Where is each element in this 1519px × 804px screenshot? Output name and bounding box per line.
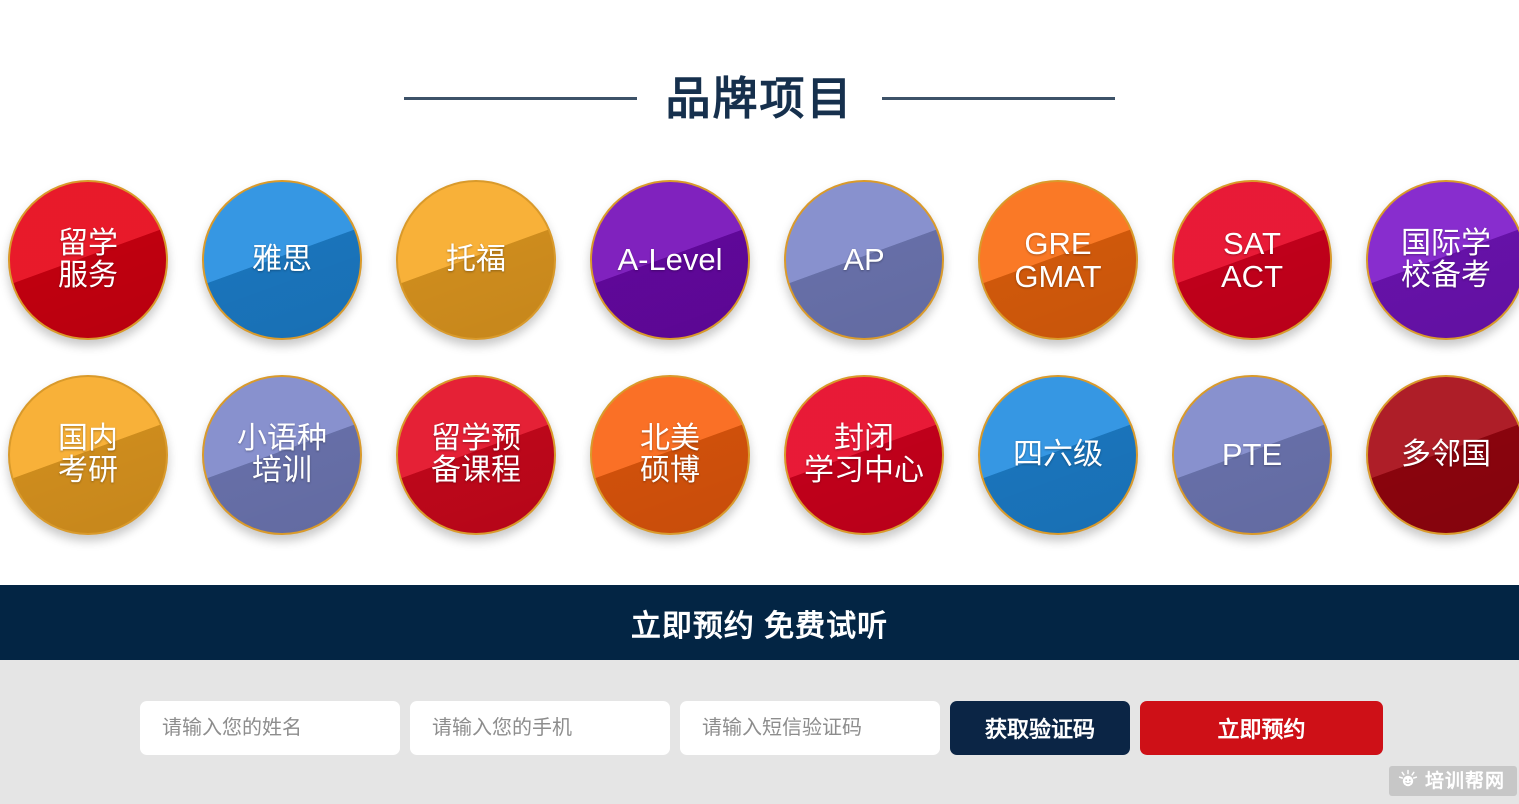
program-bubble-label: 封闭 学习中心 [796,423,932,488]
submit-booking-button[interactable]: 立即预约 [1140,701,1383,755]
program-bubble[interactable]: AP [784,180,944,340]
program-bubble[interactable]: 雅思 [202,180,362,340]
program-bubble-label: 留学 服务 [50,228,126,293]
program-bubble-label: PTE [1214,438,1290,471]
get-verification-code-button[interactable]: 获取验证码 [950,701,1130,755]
program-bubble[interactable]: 多邻国 [1366,375,1519,535]
program-bubble-label: 国际学 校备考 [1393,228,1499,293]
page-title: 品牌项目 [665,76,853,121]
program-bubble[interactable]: GRE GMAT [978,180,1138,340]
program-cell: 雅思 [202,180,396,345]
program-cell: GRE GMAT [978,180,1172,345]
program-cell: 留学预 备课程 [396,375,590,540]
booking-banner-title: 立即预约 免费试听 [631,601,888,645]
program-row-2: 国内 考研小语种 培训留学预 备课程北美 硕博封闭 学习中心四六级PTE多邻国 [0,375,1519,540]
program-grid: 留学 服务雅思托福A-LevelAPGRE GMATSAT ACT国际学 校备考… [0,180,1519,570]
program-bubble-label: A-Level [609,243,730,276]
program-cell: AP [784,180,978,345]
program-bubble-label: 国内 考研 [50,423,126,488]
program-bubble[interactable]: 留学 服务 [8,180,168,340]
program-cell: PTE [1172,375,1366,540]
program-bubble-label: 小语种 培训 [229,423,335,488]
program-bubble-label: 北美 硕博 [632,423,708,488]
program-bubble-label: 留学预 备课程 [423,423,529,488]
booking-form: 获取验证码 立即预约 [140,701,1383,755]
program-bubble-label: 多邻国 [1393,439,1499,471]
program-bubble[interactable]: 小语种 培训 [202,375,362,535]
program-cell: A-Level [590,180,784,345]
program-cell: 国际学 校备考 [1366,180,1519,345]
program-bubble[interactable]: 托福 [396,180,556,340]
program-bubble[interactable]: 国际学 校备考 [1366,180,1519,340]
program-bubble-label: 雅思 [244,244,320,276]
program-bubble-label: 四六级 [1005,439,1111,471]
brand-programs-page: 品牌项目 留学 服务雅思托福A-LevelAPGRE GMATSAT ACT国际… [0,0,1519,804]
program-bubble-label: SAT ACT [1213,227,1291,294]
heading-rule-right [882,97,1115,100]
page-heading: 品牌项目 [0,62,1519,134]
booking-banner: 立即预约 免费试听 [0,585,1519,660]
program-bubble-label: 托福 [438,244,514,276]
heading-rule-left [404,97,637,100]
program-bubble[interactable]: 封闭 学习中心 [784,375,944,535]
name-input[interactable] [140,701,400,755]
program-cell: 封闭 学习中心 [784,375,978,540]
program-bubble[interactable]: 留学预 备课程 [396,375,556,535]
site-watermark: 培训帮网 [1389,766,1517,796]
program-cell: 国内 考研 [8,375,202,540]
program-bubble[interactable]: 国内 考研 [8,375,168,535]
program-cell: 四六级 [978,375,1172,540]
program-cell: 托福 [396,180,590,345]
sms-code-input[interactable] [680,701,940,755]
program-bubble[interactable]: A-Level [590,180,750,340]
program-cell: 留学 服务 [8,180,202,345]
program-bubble-label: GRE GMAT [1006,227,1109,294]
program-bubble[interactable]: SAT ACT [1172,180,1332,340]
sun-face-icon [1398,769,1418,794]
program-row-1: 留学 服务雅思托福A-LevelAPGRE GMATSAT ACT国际学 校备考 [0,180,1519,345]
program-bubble[interactable]: PTE [1172,375,1332,535]
program-bubble-label: AP [835,243,892,276]
program-bubble[interactable]: 北美 硕博 [590,375,750,535]
watermark-label: 培训帮网 [1425,772,1505,791]
program-cell: 北美 硕博 [590,375,784,540]
program-bubble[interactable]: 四六级 [978,375,1138,535]
phone-input[interactable] [410,701,670,755]
program-cell: 多邻国 [1366,375,1519,540]
booking-form-area: 获取验证码 立即预约 [0,660,1519,804]
program-cell: 小语种 培训 [202,375,396,540]
program-cell: SAT ACT [1172,180,1366,345]
